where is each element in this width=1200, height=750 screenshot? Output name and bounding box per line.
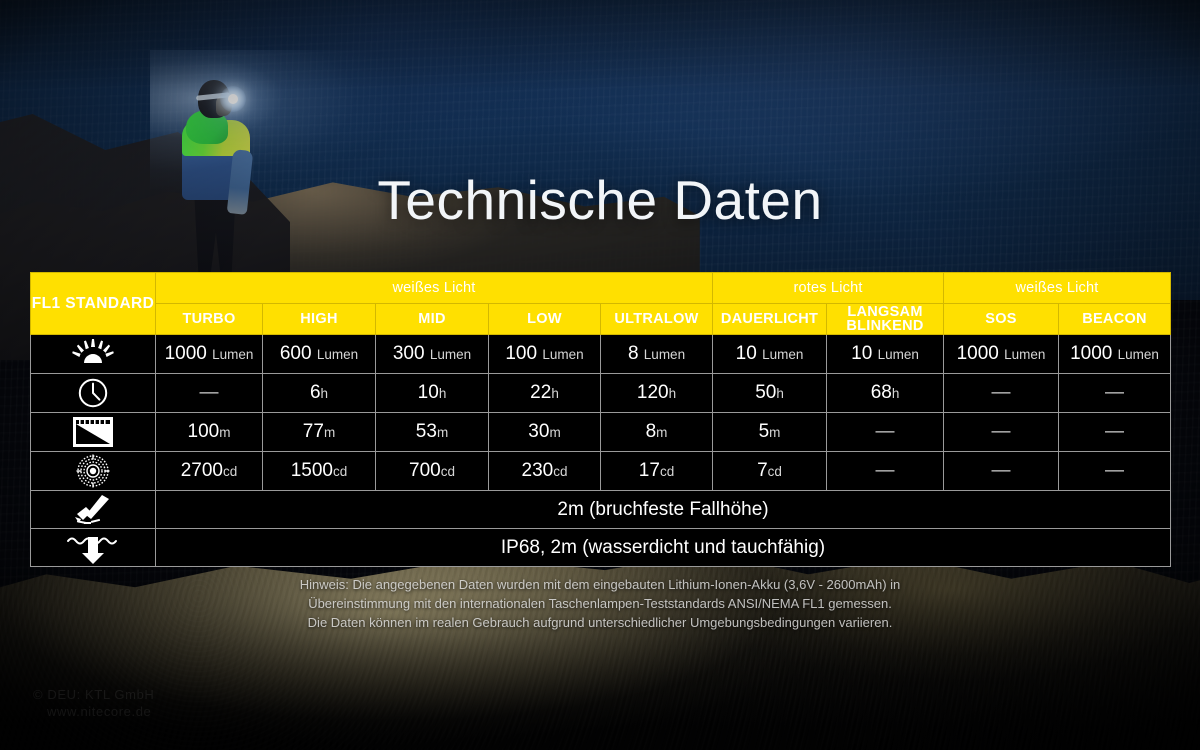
value: —	[876, 421, 895, 442]
value: 8	[628, 343, 639, 364]
cell-runtime-dauerlicht: 50h	[713, 374, 827, 413]
mode-header-dauerlicht: DAUERLICHT	[713, 304, 827, 335]
cell-brightness-dauerlicht: 10 Lumen	[713, 335, 827, 374]
cell-beam-ultralow: 8m	[601, 413, 713, 452]
table-row-brightness: 1000 Lumen 600 Lumen 300 Lumen 100 Lumen…	[31, 335, 1171, 374]
unit: h	[551, 386, 559, 401]
value: —	[992, 421, 1011, 442]
mode-header-langsam-blinkend: LANGSAM BLINKEND	[827, 304, 944, 335]
cell-brightness-high: 600 Lumen	[263, 335, 376, 374]
value: —	[1105, 382, 1124, 403]
group-header-red-light: rotes Licht	[713, 273, 944, 304]
value: —	[200, 382, 219, 403]
cell-brightness-langsam-blinkend: 10 Lumen	[827, 335, 944, 374]
technical-data-table: FL1 STANDARD weißes Licht rotes Licht we…	[30, 272, 1171, 567]
unit: Lumen	[644, 347, 685, 362]
cell-beam-mid: 53m	[376, 413, 489, 452]
unit: cd	[333, 464, 347, 479]
value: 50	[755, 382, 776, 403]
cell-beam-sos: —	[944, 413, 1059, 452]
value: 10	[418, 382, 439, 403]
unit: h	[439, 386, 447, 401]
cell-intensity-langsam-blinkend: —	[827, 452, 944, 491]
mode-header-mid: MID	[376, 304, 489, 335]
impact-icon-cell	[31, 491, 156, 529]
cell-runtime-langsam-blinkend: 68h	[827, 374, 944, 413]
value: 700	[409, 460, 441, 481]
cell-brightness-low: 100 Lumen	[489, 335, 601, 374]
value: —	[1105, 460, 1124, 481]
value: 2700	[181, 460, 223, 481]
footnote-line-2: Übereinstimmung mit den internationalen …	[0, 594, 1200, 613]
unit: m	[656, 425, 667, 440]
beam-distance-icon	[31, 414, 155, 450]
unit: Lumen	[762, 347, 803, 362]
table-row-runtime: — 6h 10h 22h 120h 50h 68h — —	[31, 374, 1171, 413]
cell-intensity-beacon: —	[1059, 452, 1171, 491]
brightness-icon	[31, 336, 155, 372]
value: 100	[188, 421, 220, 442]
headlamp-light-icon	[228, 94, 238, 104]
unit: cd	[553, 464, 567, 479]
waterproof-icon	[31, 530, 155, 566]
cell-intensity-high: 1500cd	[263, 452, 376, 491]
group-header-white-light-2: weißes Licht	[944, 273, 1171, 304]
mode-header-sos: SOS	[944, 304, 1059, 335]
value: 1500	[291, 460, 333, 481]
table-row-peak-intensity: 2700cd 1500cd 700cd 230cd 17cd 7cd — — —	[31, 452, 1171, 491]
cell-brightness-ultralow: 8 Lumen	[601, 335, 713, 374]
value: —	[992, 382, 1011, 403]
group-header-white-light-1: weißes Licht	[156, 273, 713, 304]
footnote: Hinweis: Die angegebenen Daten wurden mi…	[0, 575, 1200, 632]
runtime-clock-icon	[31, 375, 155, 411]
watermark: © DEU: KTL GmbH www.nitecore.de	[33, 686, 154, 720]
cell-brightness-turbo: 1000 Lumen	[156, 335, 263, 374]
unit: h	[776, 386, 784, 401]
cell-runtime-mid: 10h	[376, 374, 489, 413]
value: 120	[637, 382, 669, 403]
cell-beam-beacon: —	[1059, 413, 1171, 452]
mode-header-langsam-blinkend-line2: BLINKEND	[827, 319, 943, 333]
waterproof-value: IP68, 2m (wasserdicht und tauchfähig)	[156, 529, 1171, 567]
value: 1000	[1070, 343, 1112, 364]
value: 7	[757, 460, 768, 481]
value: 100	[505, 343, 537, 364]
cell-runtime-turbo: —	[156, 374, 263, 413]
value: 17	[639, 460, 660, 481]
value: 600	[280, 343, 312, 364]
unit: cd	[660, 464, 674, 479]
table-row-waterproof: IP68, 2m (wasserdicht und tauchfähig)	[31, 529, 1171, 567]
table-row-beam-distance: 100m 77m 53m 30m 8m 5m — — —	[31, 413, 1171, 452]
unit: Lumen	[878, 347, 919, 362]
mode-header-low: LOW	[489, 304, 601, 335]
unit: m	[549, 425, 560, 440]
value: 68	[871, 382, 892, 403]
cell-brightness-beacon: 1000 Lumen	[1059, 335, 1171, 374]
table-group-header-row: FL1 STANDARD weißes Licht rotes Licht we…	[31, 273, 1171, 304]
value: 10	[736, 343, 757, 364]
beam-distance-icon-cell	[31, 413, 156, 452]
watermark-company: © DEU: KTL GmbH	[33, 686, 154, 703]
unit: Lumen	[1118, 347, 1159, 362]
cell-brightness-mid: 300 Lumen	[376, 335, 489, 374]
person-with-headlamp	[160, 58, 280, 273]
unit: m	[769, 425, 780, 440]
footnote-line-3: Die Daten können im realen Gebrauch aufg…	[0, 613, 1200, 632]
table-row-impact-resistance: 2m (bruchfeste Fallhöhe)	[31, 491, 1171, 529]
peak-beam-intensity-icon	[31, 453, 155, 489]
cell-runtime-sos: —	[944, 374, 1059, 413]
value: 230	[522, 460, 554, 481]
waterproof-icon-cell	[31, 529, 156, 567]
unit: h	[669, 386, 677, 401]
cell-runtime-ultralow: 120h	[601, 374, 713, 413]
unit: Lumen	[212, 347, 253, 362]
unit: Lumen	[430, 347, 471, 362]
cell-beam-dauerlicht: 5m	[713, 413, 827, 452]
cell-intensity-dauerlicht: 7cd	[713, 452, 827, 491]
value: 5	[759, 421, 770, 442]
cell-intensity-sos: —	[944, 452, 1059, 491]
spec-table-container: FL1 STANDARD weißes Licht rotes Licht we…	[30, 272, 1170, 567]
peak-intensity-icon-cell	[31, 452, 156, 491]
fl1-standard-label: FL1 STANDARD	[31, 273, 156, 335]
value: 1000	[957, 343, 999, 364]
page-title: Technische Daten	[0, 168, 1200, 232]
cell-beam-low: 30m	[489, 413, 601, 452]
value: 8	[646, 421, 657, 442]
cell-runtime-low: 22h	[489, 374, 601, 413]
cell-brightness-sos: 1000 Lumen	[944, 335, 1059, 374]
unit: m	[324, 425, 335, 440]
impact-resistance-value: 2m (bruchfeste Fallhöhe)	[156, 491, 1171, 529]
value: 10	[851, 343, 872, 364]
unit: m	[219, 425, 230, 440]
value: 30	[528, 421, 549, 442]
cell-beam-turbo: 100m	[156, 413, 263, 452]
footnote-line-1: Hinweis: Die angegebenen Daten wurden mi…	[0, 575, 1200, 594]
impact-resistance-icon	[31, 492, 155, 528]
watermark-url: www.nitecore.de	[33, 703, 154, 720]
unit: m	[437, 425, 448, 440]
value: 53	[416, 421, 437, 442]
cell-runtime-beacon: —	[1059, 374, 1171, 413]
value: —	[876, 460, 895, 481]
runtime-icon-cell	[31, 374, 156, 413]
value: 22	[530, 382, 551, 403]
mode-header-ultralow: ULTRALOW	[601, 304, 713, 335]
cell-beam-langsam-blinkend: —	[827, 413, 944, 452]
table-mode-header-row: TURBO HIGH MID LOW ULTRALOW DAUERLICHT L…	[31, 304, 1171, 335]
cell-intensity-mid: 700cd	[376, 452, 489, 491]
cell-intensity-ultralow: 17cd	[601, 452, 713, 491]
mode-header-langsam-blinkend-line1: LANGSAM	[827, 305, 943, 319]
value: 300	[393, 343, 425, 364]
cell-runtime-high: 6h	[263, 374, 376, 413]
value: —	[992, 460, 1011, 481]
slide-root: Technische Daten FL1 STANDARD weißes Lic…	[0, 0, 1200, 750]
mode-header-turbo: TURBO	[156, 304, 263, 335]
unit: cd	[768, 464, 782, 479]
value: —	[1105, 421, 1124, 442]
unit: Lumen	[1004, 347, 1045, 362]
mode-header-beacon: BEACON	[1059, 304, 1171, 335]
cell-intensity-turbo: 2700cd	[156, 452, 263, 491]
unit: Lumen	[317, 347, 358, 362]
unit: cd	[441, 464, 455, 479]
value: 77	[303, 421, 324, 442]
mode-header-high: HIGH	[263, 304, 376, 335]
unit: h	[321, 386, 329, 401]
cell-intensity-low: 230cd	[489, 452, 601, 491]
unit: Lumen	[542, 347, 583, 362]
brightness-icon-cell	[31, 335, 156, 374]
unit: cd	[223, 464, 237, 479]
value: 6	[310, 382, 321, 403]
cell-beam-high: 77m	[263, 413, 376, 452]
value: 1000	[165, 343, 207, 364]
unit: h	[892, 386, 900, 401]
